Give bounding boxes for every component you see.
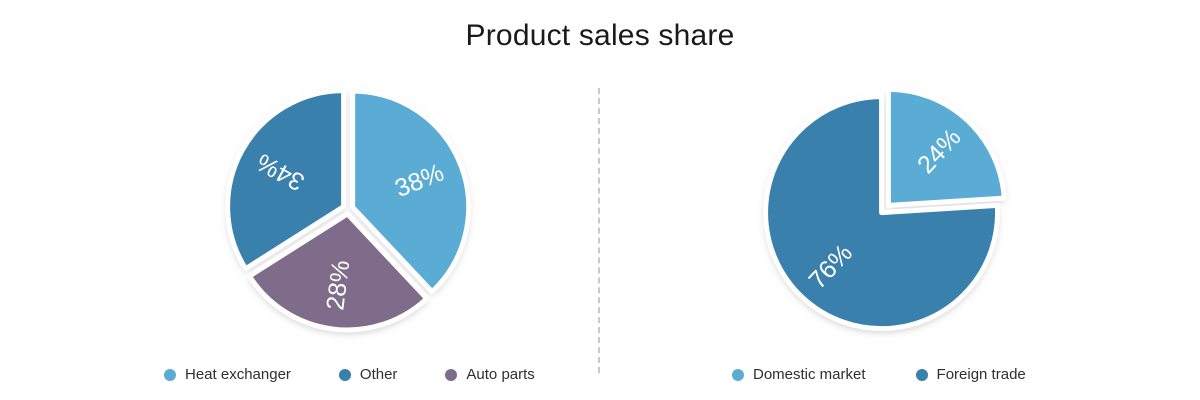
- legend-left-item[interactable]: Auto parts: [445, 365, 534, 385]
- legend-swatch-icon: [339, 369, 351, 381]
- pie-charts-canvas: 38%28%34% 24%76%: [0, 0, 1200, 400]
- pie-chart-right: 24%76%: [766, 89, 1005, 328]
- legend-swatch-icon: [445, 369, 457, 381]
- legend-left-item[interactable]: Other: [339, 365, 398, 385]
- legend-label: Auto parts: [466, 366, 534, 384]
- legend-right-item[interactable]: Foreign trade: [916, 365, 1026, 385]
- legend-label: Domestic market: [753, 366, 866, 384]
- legend-label: Heat exchanger: [185, 366, 291, 384]
- legend-left: Heat exchangerOtherAuto parts: [164, 365, 535, 385]
- legend-swatch-icon: [916, 369, 928, 381]
- legend-swatch-icon: [164, 369, 176, 381]
- legend-label: Other: [360, 366, 398, 384]
- legend-right-item[interactable]: Domestic market: [732, 365, 866, 385]
- chart-root: Product sales share 38%28%34% 24%76% Hea…: [0, 0, 1200, 400]
- legend-left-item[interactable]: Heat exchanger: [164, 365, 291, 385]
- legend-label: Foreign trade: [937, 366, 1026, 384]
- vertical-dashed-divider: [598, 88, 600, 373]
- legend-swatch-icon: [732, 369, 744, 381]
- pie-chart-left: 38%28%34%: [228, 91, 469, 330]
- legend-right: Domestic marketForeign trade: [732, 365, 1026, 385]
